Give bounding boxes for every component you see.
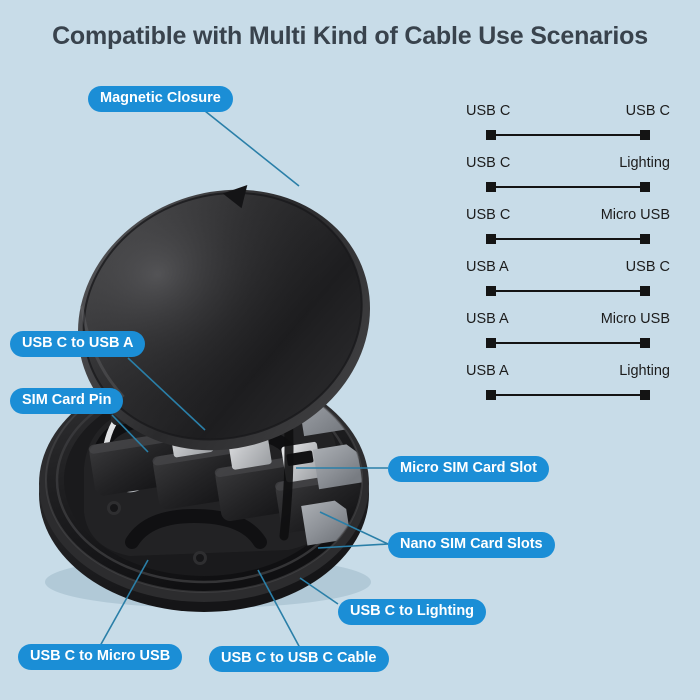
callout-usb-c-to-usb-c-cable[interactable]: USB C to USB C Cable: [209, 646, 389, 672]
cable-left-label: USB A: [466, 312, 509, 327]
callout-nano-sim-card-slots[interactable]: Nano SIM Card Slots: [388, 532, 555, 558]
product-illustration: [28, 150, 428, 620]
cable-row: USB A USB C: [466, 260, 670, 312]
cable-row: USB A Lighting: [466, 364, 670, 416]
cable-row: USB C Micro USB: [466, 208, 670, 260]
cable-end-cap-right: [640, 390, 650, 400]
cable-right-label: Micro USB: [601, 312, 670, 327]
cable-wire-graphic: [466, 338, 670, 348]
cable-line: [490, 134, 646, 136]
page-title: Compatible with Multi Kind of Cable Use …: [0, 22, 700, 51]
cable-right-label: Micro USB: [601, 208, 670, 223]
cable-wire-graphic: [466, 286, 670, 296]
cable-right-label: USB C: [626, 260, 670, 275]
callout-sim-card-pin[interactable]: SIM Card Pin: [10, 388, 123, 414]
callout-magnetic-closure[interactable]: Magnetic Closure: [88, 86, 233, 112]
cable-left-label: USB C: [466, 156, 510, 171]
cable-left-label: USB A: [466, 364, 509, 379]
cable-scenario-list: USB C USB C USB C Lighting USB C: [466, 104, 670, 416]
infographic-canvas: Compatible with Multi Kind of Cable Use …: [0, 0, 700, 700]
cable-right-label: Lighting: [619, 364, 670, 379]
callout-usb-c-to-usb-a[interactable]: USB C to USB A: [10, 331, 145, 357]
cable-row: USB C Lighting: [466, 156, 670, 208]
cable-end-cap-right: [640, 338, 650, 348]
cable-wire-graphic: [466, 390, 670, 400]
cable-line: [490, 186, 646, 188]
cable-left-label: USB C: [466, 104, 510, 119]
cable-row: USB C USB C: [466, 104, 670, 156]
cable-end-cap-right: [640, 130, 650, 140]
cable-left-label: USB A: [466, 260, 509, 275]
cable-end-cap-right: [640, 286, 650, 296]
cable-wire-graphic: [466, 234, 670, 244]
cable-row: USB A Micro USB: [466, 312, 670, 364]
cable-line: [490, 290, 646, 292]
callout-usb-c-to-lighting[interactable]: USB C to Lighting: [338, 599, 486, 625]
cable-end-cap-right: [640, 182, 650, 192]
callout-micro-sim-card-slot[interactable]: Micro SIM Card Slot: [388, 456, 549, 482]
cable-right-label: Lighting: [619, 156, 670, 171]
callout-usb-c-to-micro-usb[interactable]: USB C to Micro USB: [18, 644, 182, 670]
cable-wire-graphic: [466, 130, 670, 140]
cable-line: [490, 394, 646, 396]
cable-right-label: USB C: [626, 104, 670, 119]
cable-left-label: USB C: [466, 208, 510, 223]
cable-end-cap-right: [640, 234, 650, 244]
cable-wire-graphic: [466, 182, 670, 192]
cable-line: [490, 238, 646, 240]
cable-line: [490, 342, 646, 344]
